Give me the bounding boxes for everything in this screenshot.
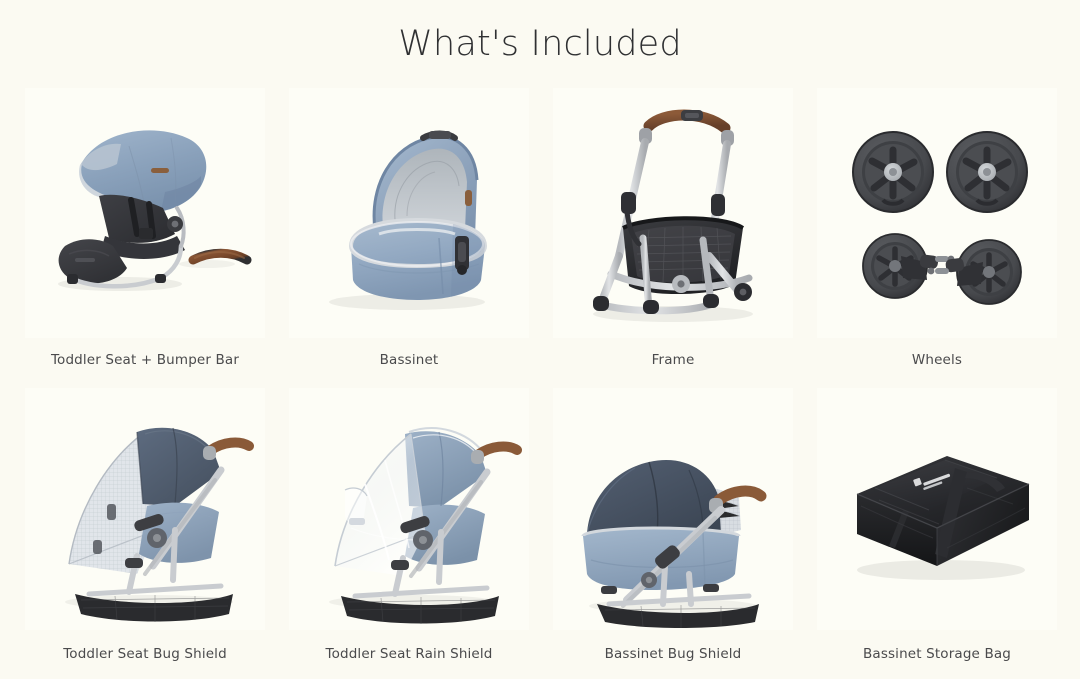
grid-item-bassinet[interactable]: Bassinet	[289, 88, 529, 370]
bassinet-icon	[289, 88, 529, 338]
toddler-seat-icon	[25, 88, 265, 338]
product-caption: Bassinet Bug Shield	[605, 646, 742, 664]
product-image-tile[interactable]	[25, 388, 265, 630]
product-image-tile[interactable]	[289, 388, 529, 630]
product-caption: Toddler Seat + Bumper Bar	[51, 352, 239, 370]
front-wheel-left	[863, 234, 954, 298]
bassinet-storage-bag-icon	[817, 388, 1057, 630]
product-image-tile[interactable]	[817, 88, 1057, 338]
bassinet-bug-shield-icon	[553, 388, 793, 630]
wheels-icon	[817, 88, 1057, 338]
product-image-tile[interactable]	[553, 388, 793, 630]
product-caption: Toddler Seat Rain Shield	[325, 646, 492, 664]
rear-wheel-right	[947, 132, 1027, 212]
toddler-seat-bug-shield-icon	[25, 388, 265, 630]
frame-icon	[553, 88, 793, 338]
toddler-seat-rain-shield-icon	[289, 388, 529, 630]
rear-wheel-left	[853, 132, 933, 212]
product-grid: Toddler Seat + Bumper Bar	[25, 88, 1056, 663]
product-caption: Bassinet Storage Bag	[863, 646, 1011, 664]
grid-item-toddler-seat-bug-shield[interactable]: Toddler Seat Bug Shield	[25, 388, 265, 664]
whats-included-page: What's Included	[0, 0, 1080, 679]
product-caption: Toddler Seat Bug Shield	[63, 646, 227, 664]
grid-item-wheels[interactable]: Wheels	[817, 88, 1057, 370]
product-image-tile[interactable]	[289, 88, 529, 338]
product-image-tile[interactable]	[817, 388, 1057, 630]
grid-item-bassinet-storage-bag[interactable]: Bassinet Storage Bag	[817, 388, 1057, 664]
product-image-tile[interactable]	[25, 88, 265, 338]
grid-item-frame[interactable]: Frame	[553, 88, 793, 370]
front-wheel-right	[928, 240, 1021, 304]
product-caption: Wheels	[912, 352, 962, 370]
product-caption: Frame	[652, 352, 695, 370]
product-caption: Bassinet	[380, 352, 439, 370]
grid-item-toddler-seat-bumper-bar[interactable]: Toddler Seat + Bumper Bar	[25, 88, 265, 370]
page-title: What's Included	[0, 24, 1080, 64]
grid-item-bassinet-bug-shield[interactable]: Bassinet Bug Shield	[553, 388, 793, 664]
grid-item-toddler-seat-rain-shield[interactable]: Toddler Seat Rain Shield	[289, 388, 529, 664]
product-image-tile[interactable]	[553, 88, 793, 338]
